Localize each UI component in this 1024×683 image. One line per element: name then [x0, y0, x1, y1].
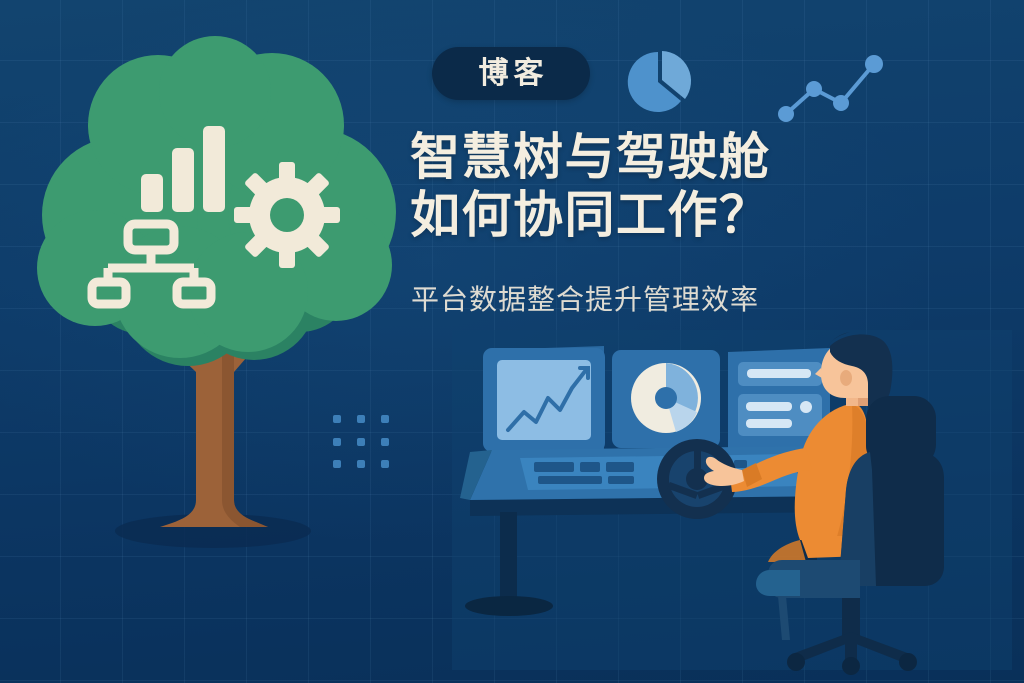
- cockpit-illustration: [0, 0, 1024, 683]
- chair-armrest: [756, 570, 800, 596]
- chair-wheel: [899, 653, 917, 671]
- desk-leg-left: [500, 512, 517, 604]
- monitor3-card-bottom: [738, 394, 822, 436]
- console-keypad-left: [520, 456, 680, 490]
- monitor2-donut-chart: [631, 363, 701, 433]
- chair-wheel: [842, 657, 860, 675]
- chair-wheel: [787, 653, 805, 671]
- cover-illustration: 博客 智慧树与驾驶舱 如何协同工作？ 平台数据整合提升管理效率: [0, 0, 1024, 683]
